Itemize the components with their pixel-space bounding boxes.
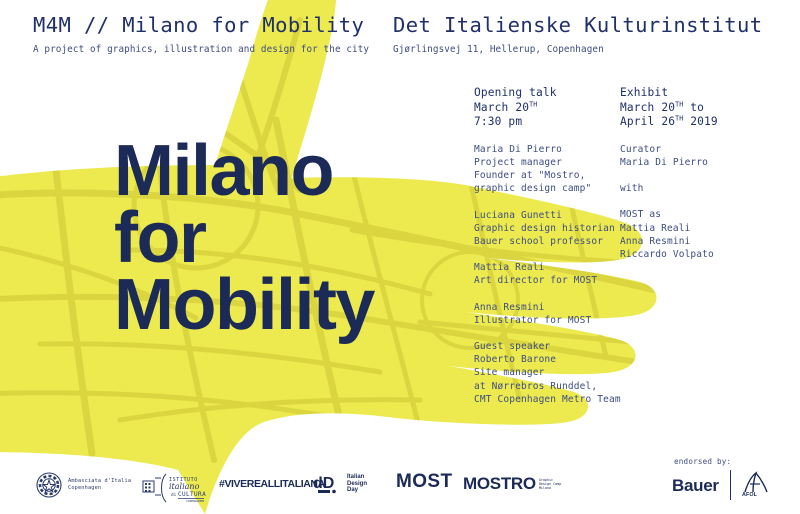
exhibit-date-end-text: April 26	[620, 115, 675, 128]
iic-line-3-small: di	[171, 492, 177, 498]
exhibit-date-start-suffix: to	[683, 101, 704, 114]
idd-line-1: Italian	[347, 474, 367, 481]
speaker-detail: graphic design camp"	[474, 182, 621, 195]
bauer-logo: Bauer	[672, 476, 719, 496]
speaker-role: Graphic design historian	[474, 222, 621, 235]
opening-talk-date: March 20TH	[474, 101, 621, 116]
most-member: Mattia Reali	[620, 222, 718, 235]
speaker-name: Maria Di Pierro	[474, 143, 621, 156]
speaker-name: Luciana Gunetti	[474, 209, 621, 222]
exhibit-date-start: March 20TH to	[620, 101, 718, 116]
opening-talk-heading: Opening talk March 20TH 7:30 pm	[474, 86, 621, 130]
exhibit-heading: Exhibit March 20TH to April 26TH 2019	[620, 86, 718, 130]
afol-wordmark: AFOL	[742, 492, 757, 498]
mostro-logo: MOSTRO Graphic Design Camp Milano	[463, 474, 561, 494]
most-group-label: MOST as	[620, 208, 718, 221]
most-group-block: MOST as Mattia Reali Anna Resmini Riccar…	[620, 208, 718, 261]
iic-line-3: CULTURA	[178, 491, 206, 498]
idd-line-3: Day	[347, 487, 367, 494]
speaker-entry: Anna Resmini Illustrator for MOST	[474, 301, 621, 327]
poster-canvas: M4M // Milano for Mobility A project of …	[0, 0, 800, 514]
curator-label: Curator	[620, 143, 718, 156]
most-logo: MOST	[396, 471, 453, 493]
mostro-tagline: Graphic Design Camp Milano	[539, 478, 561, 491]
guest-speaker-name: Roberto Barone	[474, 353, 621, 366]
opening-talk-time: 7:30 pm	[474, 115, 621, 130]
guest-speaker-detail: at Nørrebros Runddel,	[474, 380, 621, 393]
speaker-name: Mattia Reali	[474, 261, 621, 274]
guest-speaker-entry: Guest speaker Roberto Barone Site manage…	[474, 340, 621, 406]
venue-address: Gjørlingsvej 11, Hellerup, Copenhagen	[393, 44, 763, 56]
most-member: Riccardo Volpato	[620, 248, 718, 261]
most-member: Anna Resmini	[620, 235, 718, 248]
mostro-tag-3: Milano	[539, 486, 561, 490]
page-subtitle: A project of graphics, illustration and …	[33, 44, 369, 56]
speaker-role: Illustrator for MOST	[474, 314, 621, 327]
speaker-entry: Luciana Gunetti Graphic design historian…	[474, 209, 621, 249]
speaker-name: Anna Resmini	[474, 301, 621, 314]
curator-block: Curator Maria Di Pierro	[620, 143, 718, 169]
iic-line-4: COPENAGHEN	[186, 499, 204, 503]
opening-talk-date-sup: TH	[529, 100, 537, 108]
embassy-logo-text: Ambasciata d'Italia Copenhagen	[68, 478, 131, 492]
footer-logos: Ambasciata d'Italia Copenhagen ISTITUTO …	[0, 442, 800, 514]
speaker-detail: Bauer school professor	[474, 235, 621, 248]
exhibit-column: Exhibit March 20TH to April 26TH 2019 Cu…	[620, 86, 718, 261]
footer-divider	[730, 470, 731, 500]
headline: Milano for Mobility	[114, 138, 374, 339]
speaker-entry: Mattia Reali Art director for MOST	[474, 261, 621, 287]
headline-line-1: Milano	[114, 138, 374, 205]
guest-speaker-role: Site manager	[474, 366, 621, 379]
venue-title: Det Italienske Kulturinstitut	[393, 13, 763, 37]
embassy-logo: Ambasciata d'Italia Copenhagen	[36, 472, 131, 498]
exhibit-date-end: April 26TH 2019	[620, 115, 718, 130]
opening-talk-column: Opening talk March 20TH 7:30 pm Maria Di…	[474, 86, 621, 406]
italian-design-day-mark-icon: dD	[313, 472, 343, 496]
italian-design-day-logo: dD Italian Design Day	[313, 472, 367, 496]
hashtag-logo: #VIVEREALLITALIANA	[219, 478, 325, 490]
curator-name: Maria Di Pierro	[620, 156, 718, 169]
idd-mark: dD	[313, 475, 334, 492]
opening-talk-date-text: March 20	[474, 101, 529, 114]
embassy-line-1: Ambasciata d'Italia	[68, 478, 131, 485]
exhibit-date-start-text: March 20	[620, 101, 675, 114]
opening-talk-title: Opening talk	[474, 86, 621, 101]
iic-line-2: italiano	[169, 482, 200, 491]
speaker-role: Art director for MOST	[474, 274, 621, 287]
italian-republic-emblem-icon	[36, 472, 62, 498]
speaker-detail: Founder at "Mostro,	[474, 169, 621, 182]
guest-speaker-label: Guest speaker	[474, 340, 621, 353]
iic-logo: ISTITUTO italiano di CULTURA COPENAGHEN	[142, 472, 206, 504]
with-label-block: with	[620, 182, 718, 195]
mostro-wordmark: MOSTRO	[463, 474, 536, 494]
idd-line-2: Design	[347, 481, 367, 488]
exhibit-title: Exhibit	[620, 86, 718, 101]
italian-design-day-text: Italian Design Day	[347, 474, 367, 494]
embassy-line-2: Copenhagen	[68, 485, 131, 492]
guest-speaker-detail: CMT Copenhagen Metro Team	[474, 393, 621, 406]
with-label: with	[620, 182, 718, 195]
speaker-entry: Maria Di Pierro Project manager Founder …	[474, 143, 621, 196]
header-left: M4M // Milano for Mobility A project of …	[33, 13, 369, 56]
speaker-role: Project manager	[474, 156, 621, 169]
headline-line-2: for	[114, 205, 374, 272]
headline-line-3: Mobility	[114, 272, 374, 339]
endorsed-by-label: endorsed by:	[674, 457, 731, 466]
exhibit-date-end-suffix: 2019	[683, 115, 717, 128]
header-right: Det Italienske Kulturinstitut Gjørlingsv…	[393, 13, 763, 56]
page-title: M4M // Milano for Mobility	[33, 13, 369, 37]
istituto-italiano-cultura-icon: ISTITUTO italiano di CULTURA COPENAGHEN	[142, 472, 206, 504]
